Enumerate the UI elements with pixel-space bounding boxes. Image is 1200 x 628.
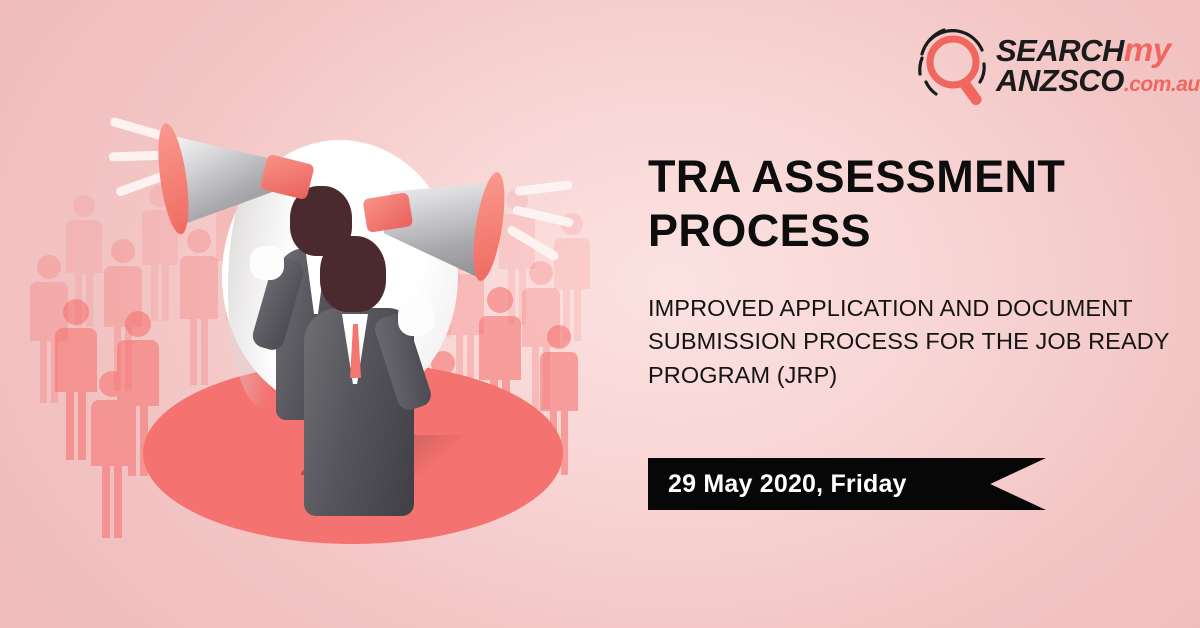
logo-line-1: SEARCHmy	[996, 34, 1200, 66]
megaphone-announcement-illustration	[0, 0, 620, 628]
logo-line-2: ANZSCO.com.au	[996, 66, 1200, 96]
logo-anzsco-text: ANZSCO	[996, 63, 1124, 98]
logo-domain-text: .com.au	[1124, 73, 1200, 96]
date-ribbon: 29 May 2020, Friday	[648, 458, 1046, 510]
text-content: TRA ASSESSMENT PROCESS IMPROVED APPLICAT…	[648, 150, 1178, 392]
megaphone-grip	[362, 192, 413, 233]
promotional-banner: SEARCHmy ANZSCO.com.au TRA ASSESSMENT PR…	[0, 0, 1200, 628]
searchmyanzsco-logo[interactable]: SEARCHmy ANZSCO.com.au	[910, 22, 1182, 114]
sound-ray	[514, 180, 573, 196]
magnifying-glass-icon	[910, 24, 1002, 112]
sound-ray	[506, 224, 560, 262]
date-label: 29 May 2020, Friday	[648, 470, 907, 499]
page-subtitle: IMPROVED APPLICATION AND DOCUMENT SUBMIS…	[648, 292, 1178, 392]
logo-my-text: my	[1124, 31, 1171, 68]
sound-ray	[512, 205, 574, 228]
page-title: TRA ASSESSMENT PROCESS	[648, 150, 1178, 258]
logo-wordmark: SEARCHmy ANZSCO.com.au	[996, 34, 1200, 97]
hand	[398, 300, 434, 336]
